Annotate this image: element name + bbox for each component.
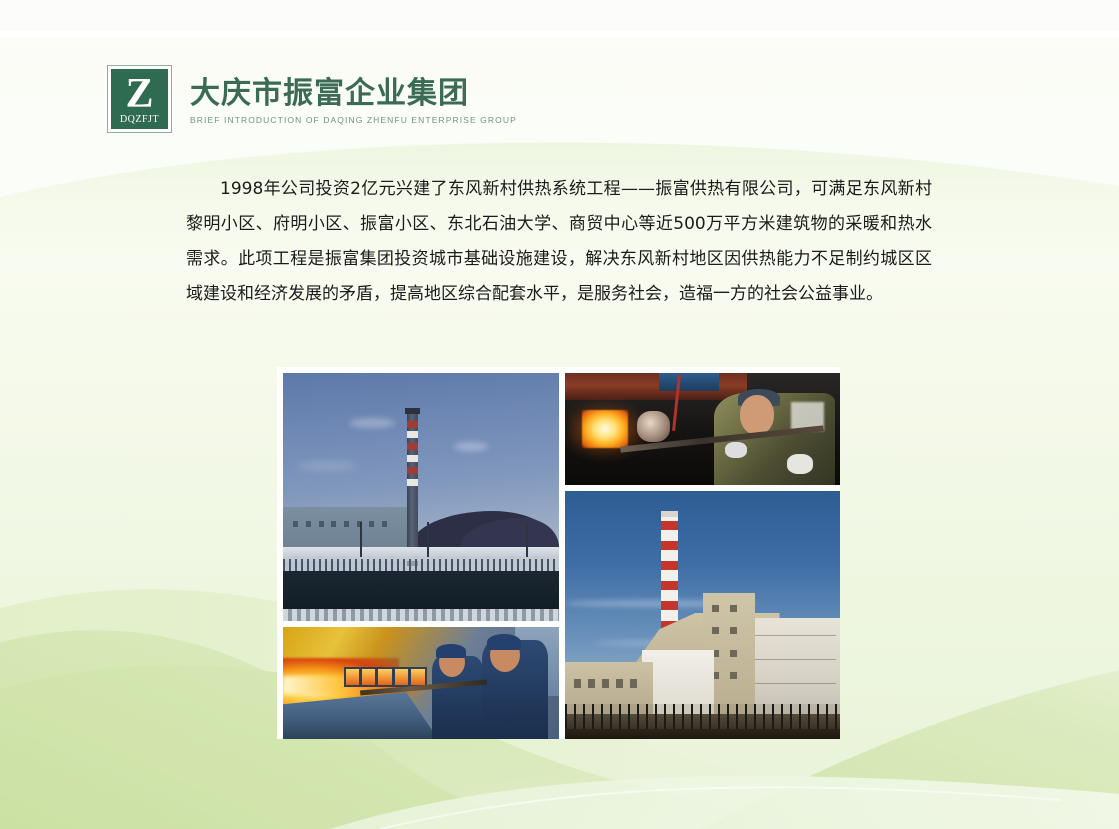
brand-subtitle: BRIEF INTRODUCTION OF DAQING ZHENFU ENTE…: [190, 115, 517, 125]
brand-text-block: 大庆市振富企业集团 BRIEF INTRODUCTION OF DAQING Z…: [190, 66, 517, 125]
page-title: 大庆市振富企业集团: [190, 77, 517, 111]
photo-furnace-operator: [565, 373, 840, 485]
company-logo-icon: Z DQZFJT: [108, 66, 171, 132]
logo-monogram: Z: [125, 73, 153, 115]
photo-power-plant-dusk: [283, 373, 559, 621]
body-paragraph: 1998年公司投资2亿元兴建了东风新村供热系统工程——振富供热有限公司，可满足东…: [186, 172, 932, 312]
top-strip-divider: [0, 31, 1119, 37]
photo-boiler-workers: [283, 627, 559, 739]
slide: Z DQZFJT 大庆市振富企业集团 BRIEF INTRODUCTION OF…: [0, 0, 1119, 829]
brand-header: Z DQZFJT 大庆市振富企业集团 BRIEF INTRODUCTION OF…: [108, 66, 517, 132]
photo-collage: [277, 367, 840, 739]
logo-abbreviation: DQZFJT: [111, 114, 168, 125]
top-strip: [0, 0, 1119, 31]
photo-heating-plant-daylight: [565, 491, 840, 739]
